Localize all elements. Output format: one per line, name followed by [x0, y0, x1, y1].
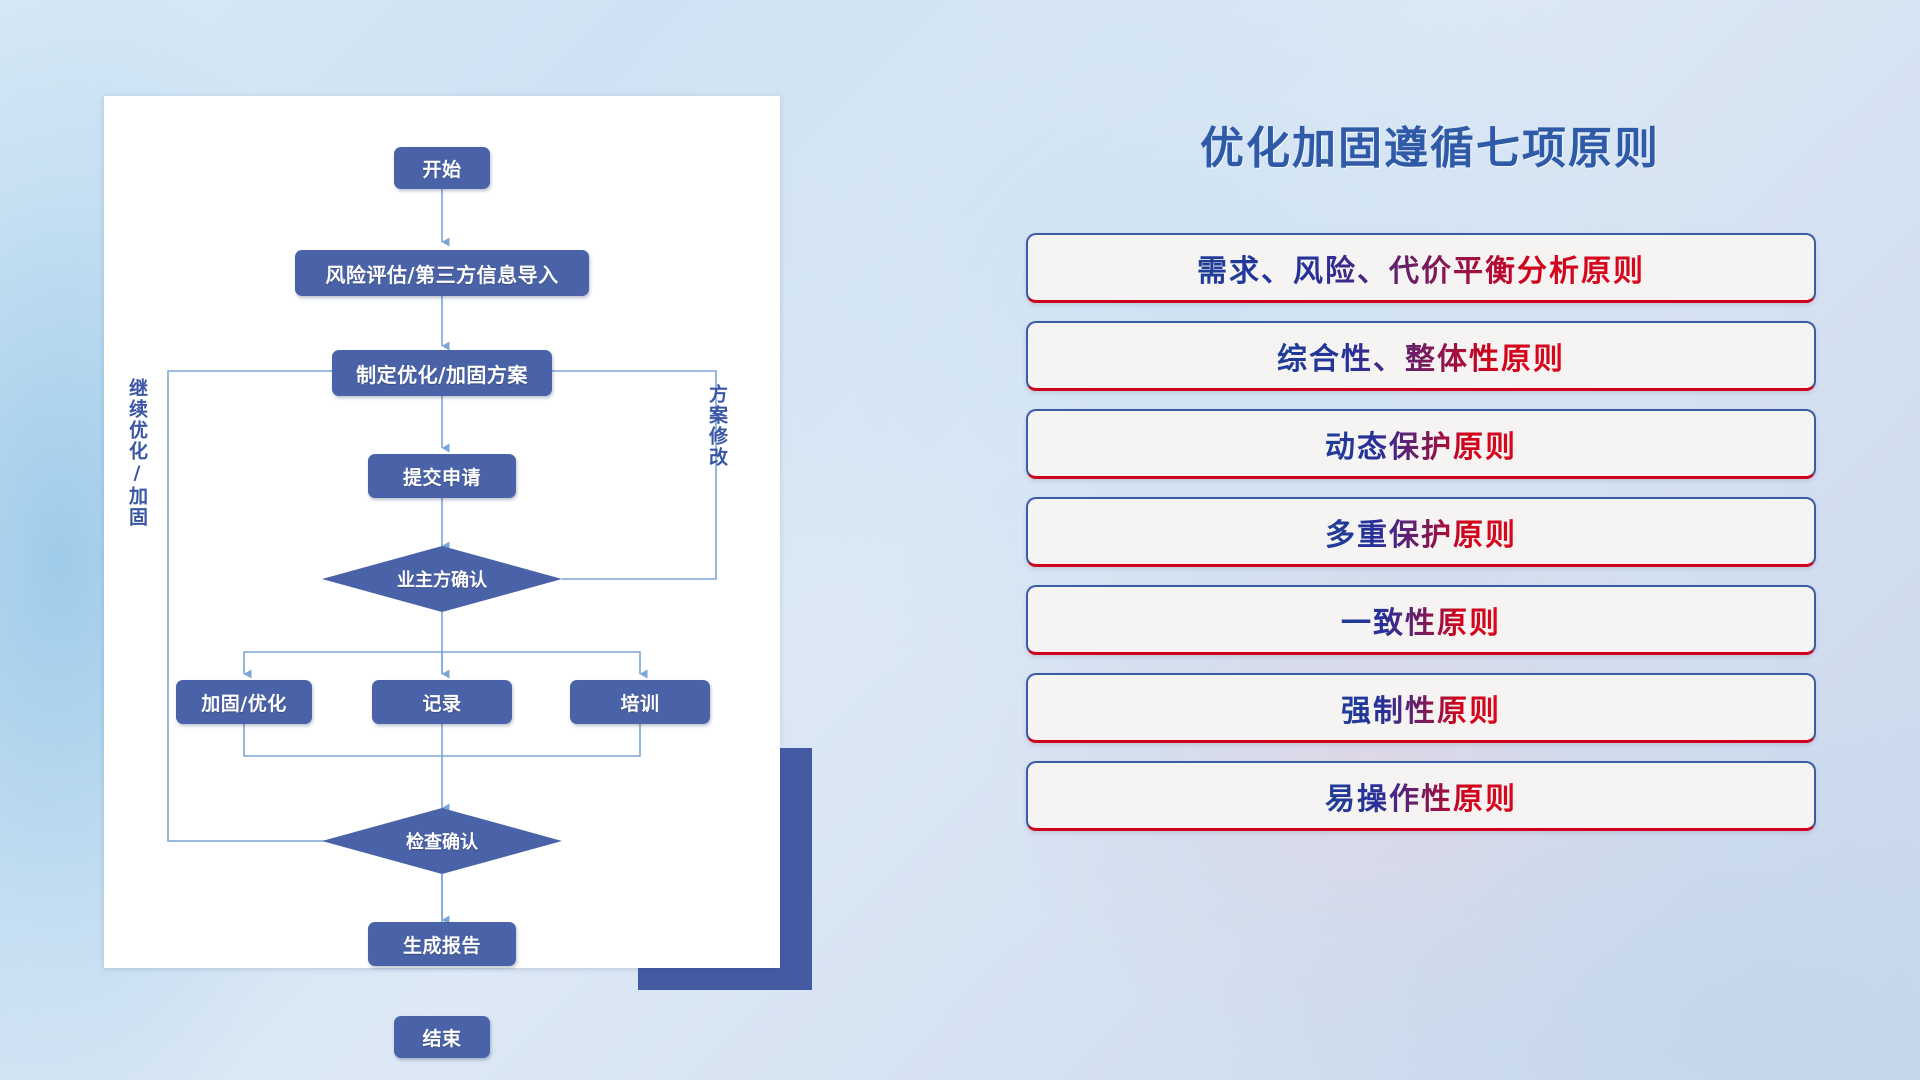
edge-label-continue-optimize: 继续优化/加固 [124, 378, 151, 528]
page-title: 优化加固遵循七项原则 [1030, 112, 1830, 176]
principle-item[interactable]: 易操作性原则 [1026, 761, 1816, 831]
principle-item[interactable]: 综合性、整体性原则 [1026, 321, 1816, 391]
flow-node-submit-application[interactable]: 提交申请 [368, 454, 516, 498]
flow-node-start[interactable]: 开始 [394, 147, 490, 189]
principle-item[interactable]: 多重保护原则 [1026, 497, 1816, 567]
flow-node-risk-assessment[interactable]: 风险评估/第三方信息导入 [295, 250, 589, 296]
principle-label: 易操作性原则 [1325, 774, 1517, 818]
flow-node-reinforce-optimize[interactable]: 加固/优化 [176, 680, 312, 724]
flow-node-record[interactable]: 记录 [372, 680, 512, 724]
flow-node-check-confirm[interactable]: 检查确认 [342, 824, 542, 858]
flow-node-make-plan[interactable]: 制定优化/加固方案 [332, 350, 552, 396]
flow-node-training[interactable]: 培训 [570, 680, 710, 724]
flow-node-generate-report[interactable]: 生成报告 [368, 922, 516, 966]
flowchart-card: 继续优化/加固 方案修改 开始 风险评估/第三方信息导入 制定优化/加固方案 提… [104, 96, 780, 968]
principle-label: 需求、风险、代价平衡分析原则 [1197, 246, 1645, 290]
flow-node-end[interactable]: 结束 [394, 1016, 490, 1058]
principle-item[interactable]: 动态保护原则 [1026, 409, 1816, 479]
principles-list: 需求、风险、代价平衡分析原则 综合性、整体性原则 动态保护原则 多重保护原则 一… [1026, 233, 1816, 849]
principle-label: 多重保护原则 [1325, 510, 1517, 554]
principle-item[interactable]: 一致性原则 [1026, 585, 1816, 655]
principle-label: 强制性原则 [1341, 686, 1501, 730]
principle-label: 动态保护原则 [1325, 422, 1517, 466]
principle-item[interactable]: 强制性原则 [1026, 673, 1816, 743]
slide-root: 继续优化/加固 方案修改 开始 风险评估/第三方信息导入 制定优化/加固方案 提… [0, 0, 1920, 1080]
principle-label: 一致性原则 [1341, 598, 1501, 642]
principle-item[interactable]: 需求、风险、代价平衡分析原则 [1026, 233, 1816, 303]
principle-label: 综合性、整体性原则 [1277, 334, 1565, 378]
flow-node-owner-confirm[interactable]: 业主方确认 [342, 562, 542, 596]
edge-label-plan-revision: 方案修改 [704, 384, 731, 468]
